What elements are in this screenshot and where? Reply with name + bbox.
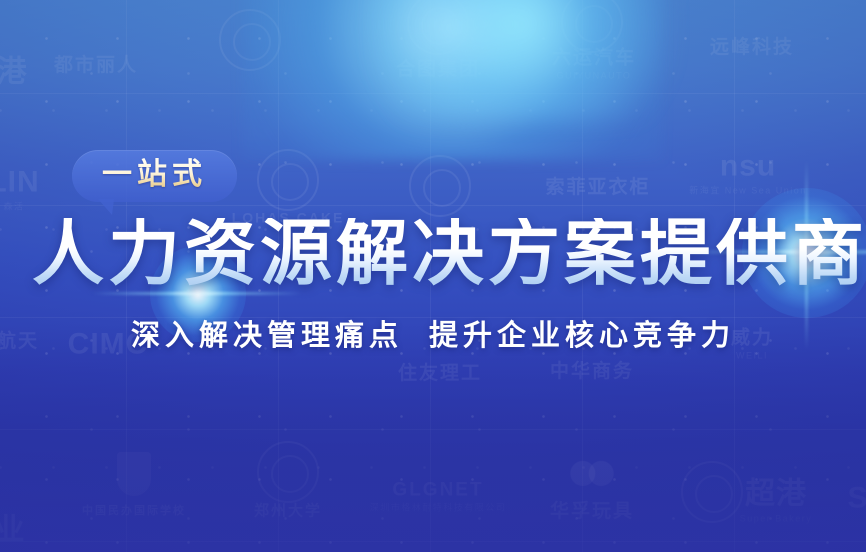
badge-label: 一站式	[102, 158, 207, 191]
hero-banner: 港 都市丽人 合图集团 六运汽车GUIYUNAUTO 远峰科技 LIN森活 LO…	[0, 0, 866, 552]
subtitle-left: 深入解决管理痛点	[131, 320, 403, 352]
subtitle: 深入解决管理痛点提升企业核心竞争力	[0, 312, 866, 354]
one-stop-badge: 一站式	[72, 150, 237, 202]
speech-bubble-badge: 一站式	[72, 150, 237, 202]
subtitle-right: 提升企业核心竞争力	[429, 320, 735, 352]
page-title: 人力资源解决方案提供商	[32, 218, 866, 290]
hero-content: 一站式 人力资源解决方案提供商 深入解决管理痛点提升企业核心竞争力	[0, 0, 866, 552]
